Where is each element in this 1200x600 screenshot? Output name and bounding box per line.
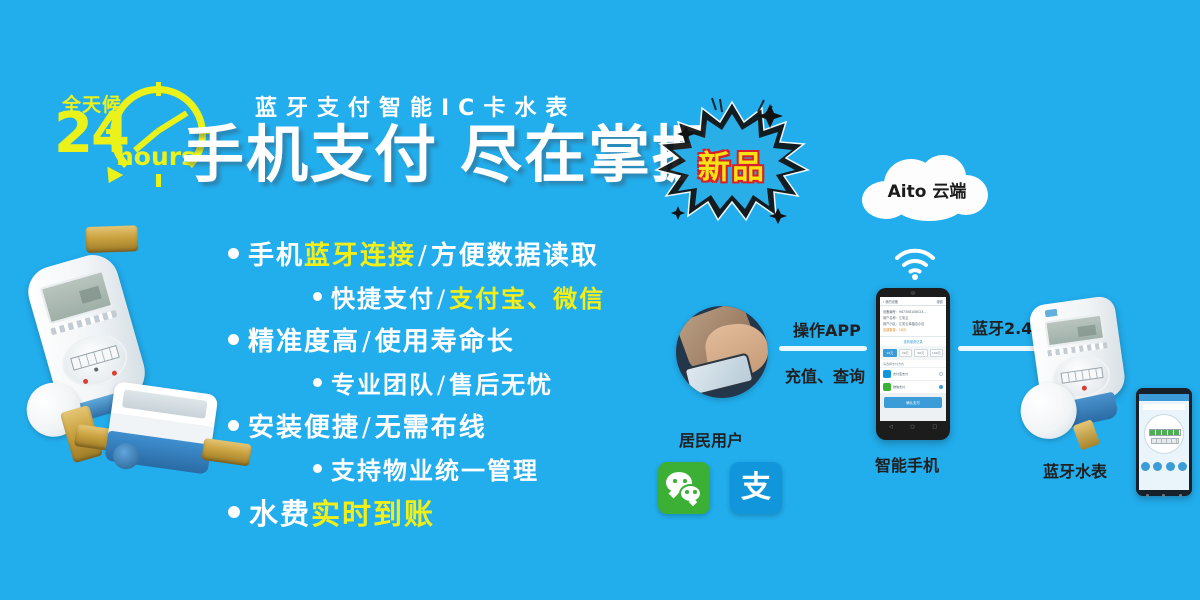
feature-segment: 方便数据读取 (431, 241, 599, 271)
wifi-icon (893, 246, 937, 280)
feature-highlight: 支付宝、微信 (449, 285, 605, 313)
list-item: 精准度高/使用寿命长 (228, 318, 688, 361)
phone-screen: ‹ 我的设备 缴费 设备编号：987308108023... 用户名称：江彩云 … (880, 297, 946, 421)
recents-nav-icon[interactable]: □ (932, 424, 937, 430)
payment-option-label: 微信支付 (893, 385, 937, 389)
feature-segment: 使用寿命长 (375, 327, 515, 357)
wechat-eye-icon (685, 490, 689, 494)
amount-chip[interactable]: 50元 (914, 349, 928, 357)
meter-register-digits (1060, 367, 1103, 384)
amount-chip[interactable]: 10元 (883, 349, 897, 357)
list-item: 支持物业统一管理 (228, 447, 688, 490)
operate-app-label: 操作APP (793, 317, 861, 341)
cloud-label: Aito 云端 (862, 177, 992, 202)
view-records-link[interactable]: 查看缴费记录 (880, 337, 946, 346)
meter-lcd-display (1044, 314, 1105, 348)
feature-segment: 售后无忧 (449, 371, 553, 399)
list-item: 安装便捷/无需布线 (228, 404, 688, 447)
info-row-amount: 应缴数量：18元 (883, 327, 943, 333)
meter-red-dot-icon (1082, 385, 1088, 391)
smartphone-label: 智能手机 (875, 452, 939, 476)
app-action-icons (1139, 462, 1189, 471)
cloud-graphic: Aito 云端 (862, 155, 992, 225)
phone-camera-icon (911, 291, 916, 295)
resident-user-photo (676, 306, 768, 398)
new-product-burst-badge: 新品 (652, 96, 812, 224)
bullet-dot-icon (313, 292, 322, 301)
confirm-payment-button[interactable]: 确认支付 (884, 397, 942, 408)
payment-option-label: 支付宝支付 (893, 372, 937, 376)
payment-option-wechat[interactable]: 微信支付 (880, 380, 946, 393)
feature-highlight: 蓝牙连接 (304, 241, 416, 271)
wechat-pay-icon[interactable] (658, 462, 710, 514)
feature-text: 专业团队/售后无忧 (331, 365, 553, 400)
feature-list: 手机蓝牙连接/方便数据读取 快捷支付/支付宝、微信 精准度高/使用寿命长 专业团… (228, 232, 688, 533)
connector-line-left (779, 346, 867, 351)
promo-banner: 全天候 24 hours 蓝牙支付智能IC卡水表 手机支付尽在掌握 新品 (0, 0, 1200, 600)
list-item: 专业团队/售后无忧 (228, 361, 688, 404)
brass-fitting-icon (85, 225, 138, 253)
feature-segment: 手机 (248, 241, 304, 271)
bullet-dot-icon (313, 464, 322, 473)
home-nav-icon[interactable]: ○ (910, 424, 914, 430)
app-back-label[interactable]: ‹ 我的设备 (883, 299, 898, 304)
phone-system-nav: ◁ ○ □ (880, 421, 946, 432)
page-title: 手机支付尽在掌握 (182, 122, 716, 187)
feature-segment: / (437, 371, 447, 399)
meter-reading-gauge (1144, 414, 1184, 454)
resident-user-label: 居民用户 (679, 427, 743, 451)
alipay-glyph: 支 (730, 462, 782, 514)
home-nav-icon[interactable] (1162, 494, 1165, 497)
gauge-gray-digits (1151, 438, 1179, 444)
feature-text: 精准度高/使用寿命长 (248, 321, 515, 358)
amount-chip[interactable]: 20元 (899, 349, 913, 357)
app-header-bar (1139, 394, 1189, 401)
radio-button-selected[interactable] (939, 385, 943, 389)
wechat-eye-icon (673, 479, 677, 483)
phone-system-nav (1139, 492, 1189, 498)
meter-reading-phone-mockup (1136, 388, 1192, 496)
wechat-icon (883, 383, 891, 391)
wechat-eye-icon (693, 490, 697, 494)
gauge-green-digits (1149, 429, 1181, 436)
feature-segment: / (437, 285, 447, 313)
feature-segment: / (362, 327, 373, 357)
bullet-dot-icon (313, 378, 322, 387)
feature-segment: 支持物业统一管理 (331, 457, 539, 485)
amount-chip-group: 10元 20元 50元 100元 (880, 346, 946, 360)
feature-segment: 快捷支付 (331, 285, 435, 313)
app-icon[interactable] (1141, 462, 1150, 471)
app-icon[interactable] (1153, 462, 1162, 471)
burst-badge-label: 新品 (652, 142, 812, 188)
clock-tick-top-icon (156, 82, 161, 96)
feature-segment: 专业团队 (331, 371, 435, 399)
radio-button[interactable] (939, 372, 943, 376)
wechat-bubble-small (679, 484, 702, 503)
clock-tick-bottom-icon (156, 174, 161, 187)
payment-option-alipay[interactable]: 支付宝支付 (880, 367, 946, 380)
feature-text: 水费实时到账 (249, 491, 435, 533)
alipay-icon (883, 370, 891, 378)
back-nav-icon[interactable]: ◁ (889, 424, 893, 430)
water-meter-label: 蓝牙水表 (1043, 458, 1107, 482)
feature-segment: 水费 (249, 497, 311, 531)
back-nav-icon[interactable] (1146, 494, 1149, 497)
list-item: 手机蓝牙连接/方便数据读取 (228, 232, 688, 275)
app-icon[interactable] (1166, 462, 1175, 471)
feature-segment: 安装便捷 (248, 413, 360, 443)
bullet-dot-icon (228, 420, 239, 431)
brass-fitting-icon (1073, 419, 1101, 450)
app-info-tag (1143, 404, 1185, 410)
list-item: 水费实时到账 (228, 490, 688, 533)
amount-chip[interactable]: 100元 (930, 349, 944, 357)
smartphone-mockup: ‹ 我的设备 缴费 设备编号：987308108023... 用户名称：江彩云 … (876, 288, 950, 440)
app-nav-bar: ‹ 我的设备 缴费 (880, 297, 946, 306)
bullet-dot-icon (228, 334, 239, 345)
recents-nav-icon[interactable] (1179, 494, 1182, 497)
feature-text: 支持物业统一管理 (331, 451, 539, 486)
title-part-one: 手机支付 (182, 118, 438, 191)
app-action-label[interactable]: 缴费 (937, 299, 943, 304)
feature-segment: / (362, 413, 373, 443)
bullet-dot-icon (228, 248, 239, 259)
valve-meter-body (107, 381, 218, 453)
payment-brand-icons: 支 (658, 462, 782, 514)
bluetooth-water-meter-photo (1006, 292, 1156, 459)
feature-segment: 无需布线 (375, 413, 487, 443)
feature-text: 安装便捷/无需布线 (248, 407, 487, 444)
recharge-query-label: 充值、查询 (785, 363, 865, 387)
payment-method-title: 请选择支付方式 (880, 360, 946, 367)
meter-app-screen (1139, 394, 1189, 490)
app-icon[interactable] (1178, 462, 1187, 471)
list-item: 快捷支付/支付宝、微信 (228, 275, 688, 318)
wechat-eye-icon (683, 479, 687, 483)
feature-segment: / (418, 241, 429, 271)
bullet-dot-icon (228, 506, 240, 518)
feature-text: 手机蓝牙连接/方便数据读取 (248, 235, 599, 272)
valve-meter-top-panel (122, 389, 208, 419)
feature-text: 快捷支付/支付宝、微信 (331, 279, 605, 314)
feature-highlight: 实时到账 (311, 497, 435, 531)
device-info-panel: 设备编号：987308108023... 用户名称：江彩云 用户小区：江彩云幸福… (880, 306, 946, 337)
feature-segment: 精准度高 (248, 327, 360, 357)
alipay-icon[interactable]: 支 (730, 462, 782, 514)
